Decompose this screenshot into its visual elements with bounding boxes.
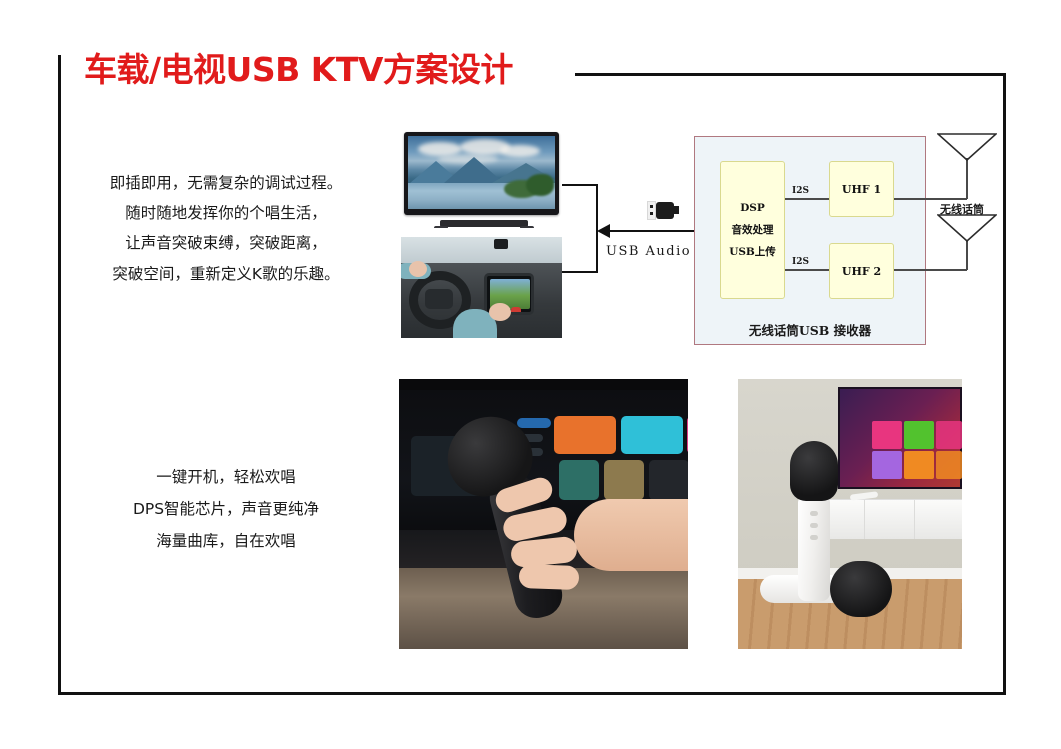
car-connector-line [562, 271, 598, 273]
tv-connector-line [562, 184, 598, 186]
i2s-label-1: I2S [792, 186, 809, 196]
frame-left-line [58, 55, 61, 695]
car-rearview-mirror [494, 239, 508, 249]
usb-audio-label: USB Audio [606, 244, 691, 259]
page-title: 车载/电视USB KTV方案设计 [84, 43, 513, 91]
tv-foot-left [434, 226, 448, 228]
tv-foot-right [520, 226, 534, 228]
feature-text-top-line-4: 突破空间，重新定义K歌的乐趣。 [70, 259, 382, 289]
uhf2-block: UHF 2 [829, 243, 894, 299]
uhf1-antenna-wire [894, 198, 967, 200]
uhf2-antenna-wire [894, 269, 967, 271]
mic-button-3 [810, 535, 818, 540]
tv-cabinet [816, 499, 962, 539]
wall-tv [838, 387, 962, 489]
i2s-label-2: I2S [792, 257, 809, 267]
dsp-label-line-2: 音效处理 [732, 219, 774, 241]
tv-bezel [404, 132, 559, 215]
tv-photo [401, 127, 562, 228]
car-steering-hub [425, 289, 453, 309]
tv-screen-image [408, 136, 555, 209]
tv-stand [440, 220, 528, 227]
frame-top-line [575, 73, 1006, 76]
uhf1-label: UHF 1 [842, 183, 881, 196]
car-screen-button [511, 307, 521, 315]
uhf2-label: UHF 2 [842, 265, 881, 278]
driver-hand-right [489, 303, 511, 321]
microphone-1-foam-head [790, 441, 838, 501]
hand-arm [574, 499, 688, 571]
frame-right-line [1003, 75, 1006, 695]
mic-button-1 [810, 511, 818, 516]
slide-canvas: 车载/电视USB KTV方案设计 即插即用，无需复杂的调试过程。 随时随地发挥你… [0, 0, 1061, 749]
uhf2-antenna-stem [966, 240, 968, 270]
antenna-1-icon [937, 133, 997, 161]
dsp-block: DSP 音效处理 USB上传 [720, 161, 785, 299]
mics-living-room-photo [738, 379, 962, 649]
i2s-wire-2 [785, 269, 829, 271]
finger-4 [519, 564, 580, 590]
car-interior-photo [401, 237, 562, 338]
feature-text-top-line-3: 让声音突破束缚，突破距离， [70, 228, 382, 258]
uhf1-block: UHF 1 [829, 161, 894, 217]
microphone-2-foam-head [830, 561, 892, 617]
feature-text-bottom: 一键开机，轻松欢唱 DPS智能芯片，声音更纯净 海量曲库，自在欢唱 [70, 462, 382, 557]
car-windshield [401, 237, 562, 263]
feature-text-top-line-2: 随时随地发挥你的个唱生活， [70, 198, 382, 228]
i2s-wire-1 [785, 198, 829, 200]
feature-text-bottom-line-3: 海量曲库，自在欢唱 [70, 526, 382, 558]
receiver-caption: 无线话筒USB 接收器 [694, 320, 926, 339]
mic-button-2 [810, 523, 818, 528]
uhf1-antenna-stem [966, 158, 968, 199]
dsp-label-line-1: DSP [740, 197, 765, 219]
feature-text-top: 即插即用，无需复杂的调试过程。 随时随地发挥你的个唱生活， 让声音突破束缚，突破… [70, 168, 382, 289]
wireless-mic-label: 无线话筒 [926, 201, 998, 217]
mic-in-car-photo [399, 379, 688, 649]
antenna-2-icon [937, 214, 997, 242]
driver-hand-left [409, 261, 427, 277]
feature-text-bottom-line-1: 一键开机，轻松欢唱 [70, 462, 382, 494]
dsp-label-line-3: USB上传 [729, 241, 776, 263]
usb-plug-icon [645, 200, 679, 222]
usb-audio-line [608, 230, 694, 232]
feature-text-bottom-line-2: DPS智能芯片，声音更纯净 [70, 494, 382, 526]
feature-text-top-line-1: 即插即用，无需复杂的调试过程。 [70, 168, 382, 198]
usb-audio-arrow-icon [597, 224, 610, 238]
frame-bottom-line [58, 692, 1006, 695]
